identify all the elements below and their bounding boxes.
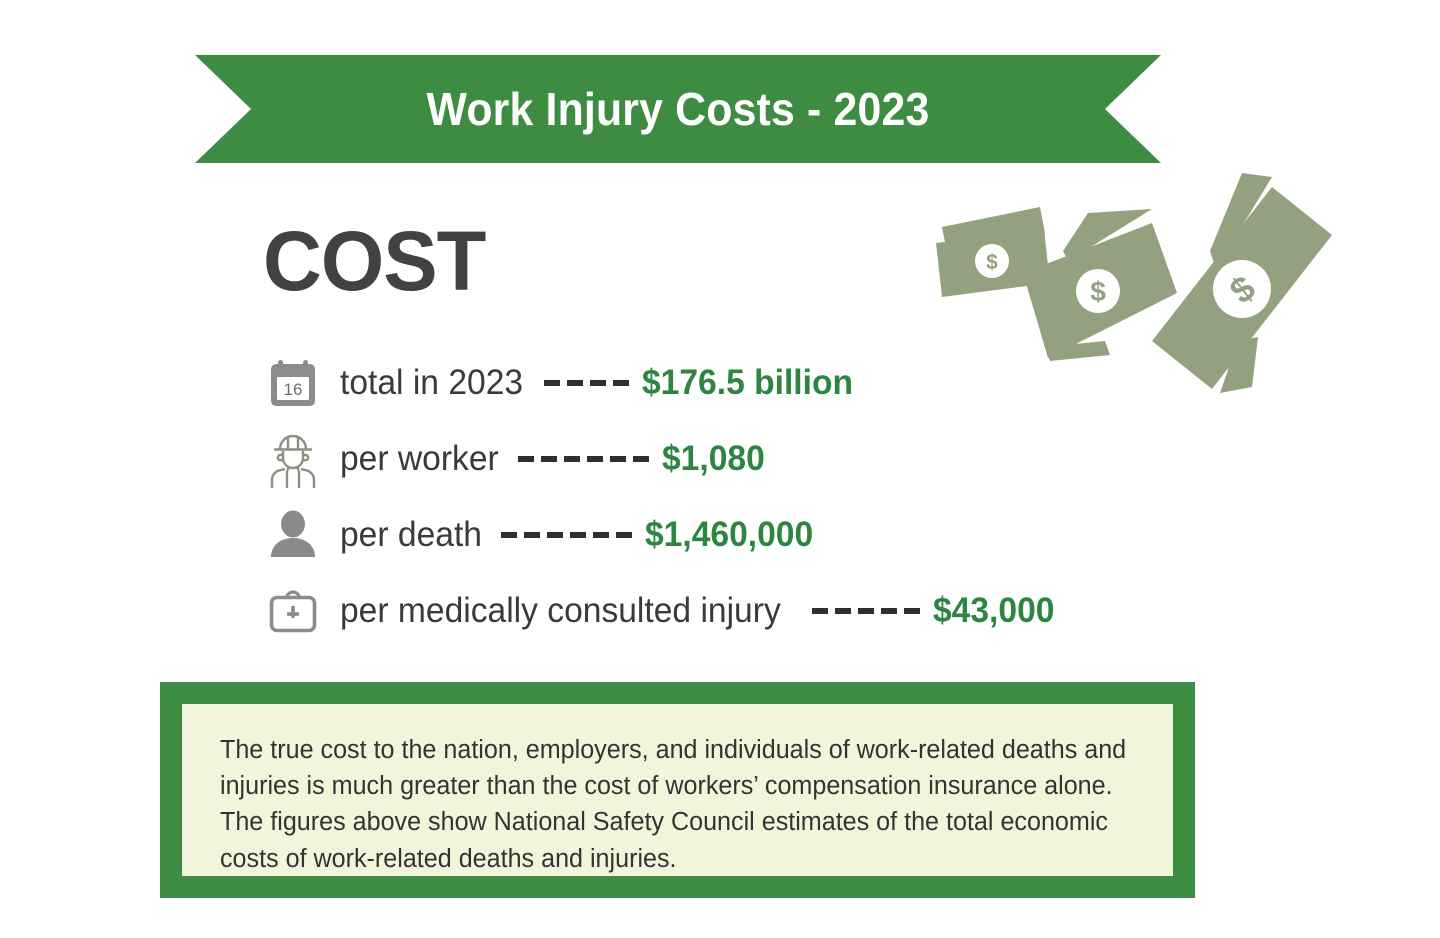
person-silhouette-icon [262,504,324,566]
title-banner: Work Injury Costs - 2023 [195,55,1161,163]
stat-row-per-worker: per worker $1,080 [262,421,1092,497]
stat-label: per worker [340,439,499,479]
stat-label: per medically consulted injury [340,591,781,631]
calendar-icon: 16 [262,352,324,414]
svg-text:$: $ [1090,276,1106,307]
svg-text:$: $ [986,251,998,274]
dollar-bill-large: $ [1152,173,1332,393]
dash-separator [501,532,632,538]
stat-value: $176.5 billion [642,363,853,403]
stat-value: $43,000 [933,591,1054,631]
stat-row-per-death: per death $1,460,000 [262,497,1092,573]
hard-hat-worker-icon [262,428,324,490]
dollar-bills-icon: $ $ $ [920,165,1350,410]
banner-title: Work Injury Costs - 2023 [229,55,1127,163]
first-aid-kit-icon [262,580,324,642]
dollar-bill-medium: $ [1023,209,1177,361]
calendar-day-text: 16 [284,380,303,399]
stat-row-per-injury: per medically consulted injury $43,000 [262,573,1092,649]
footnote-text: The true cost to the nation, employers, … [220,732,1135,877]
dash-separator [518,456,649,462]
footnote-box: The true cost to the nation, employers, … [160,682,1195,898]
page-title: COST [263,219,485,303]
stat-value: $1,460,000 [645,515,813,555]
stat-label: per death [340,515,482,555]
dash-separator [544,380,629,386]
stat-value: $1,080 [662,439,765,479]
stat-label: total in 2023 [340,363,523,403]
dash-separator [812,608,920,614]
footnote-inner-panel: The true cost to the nation, employers, … [182,704,1173,876]
